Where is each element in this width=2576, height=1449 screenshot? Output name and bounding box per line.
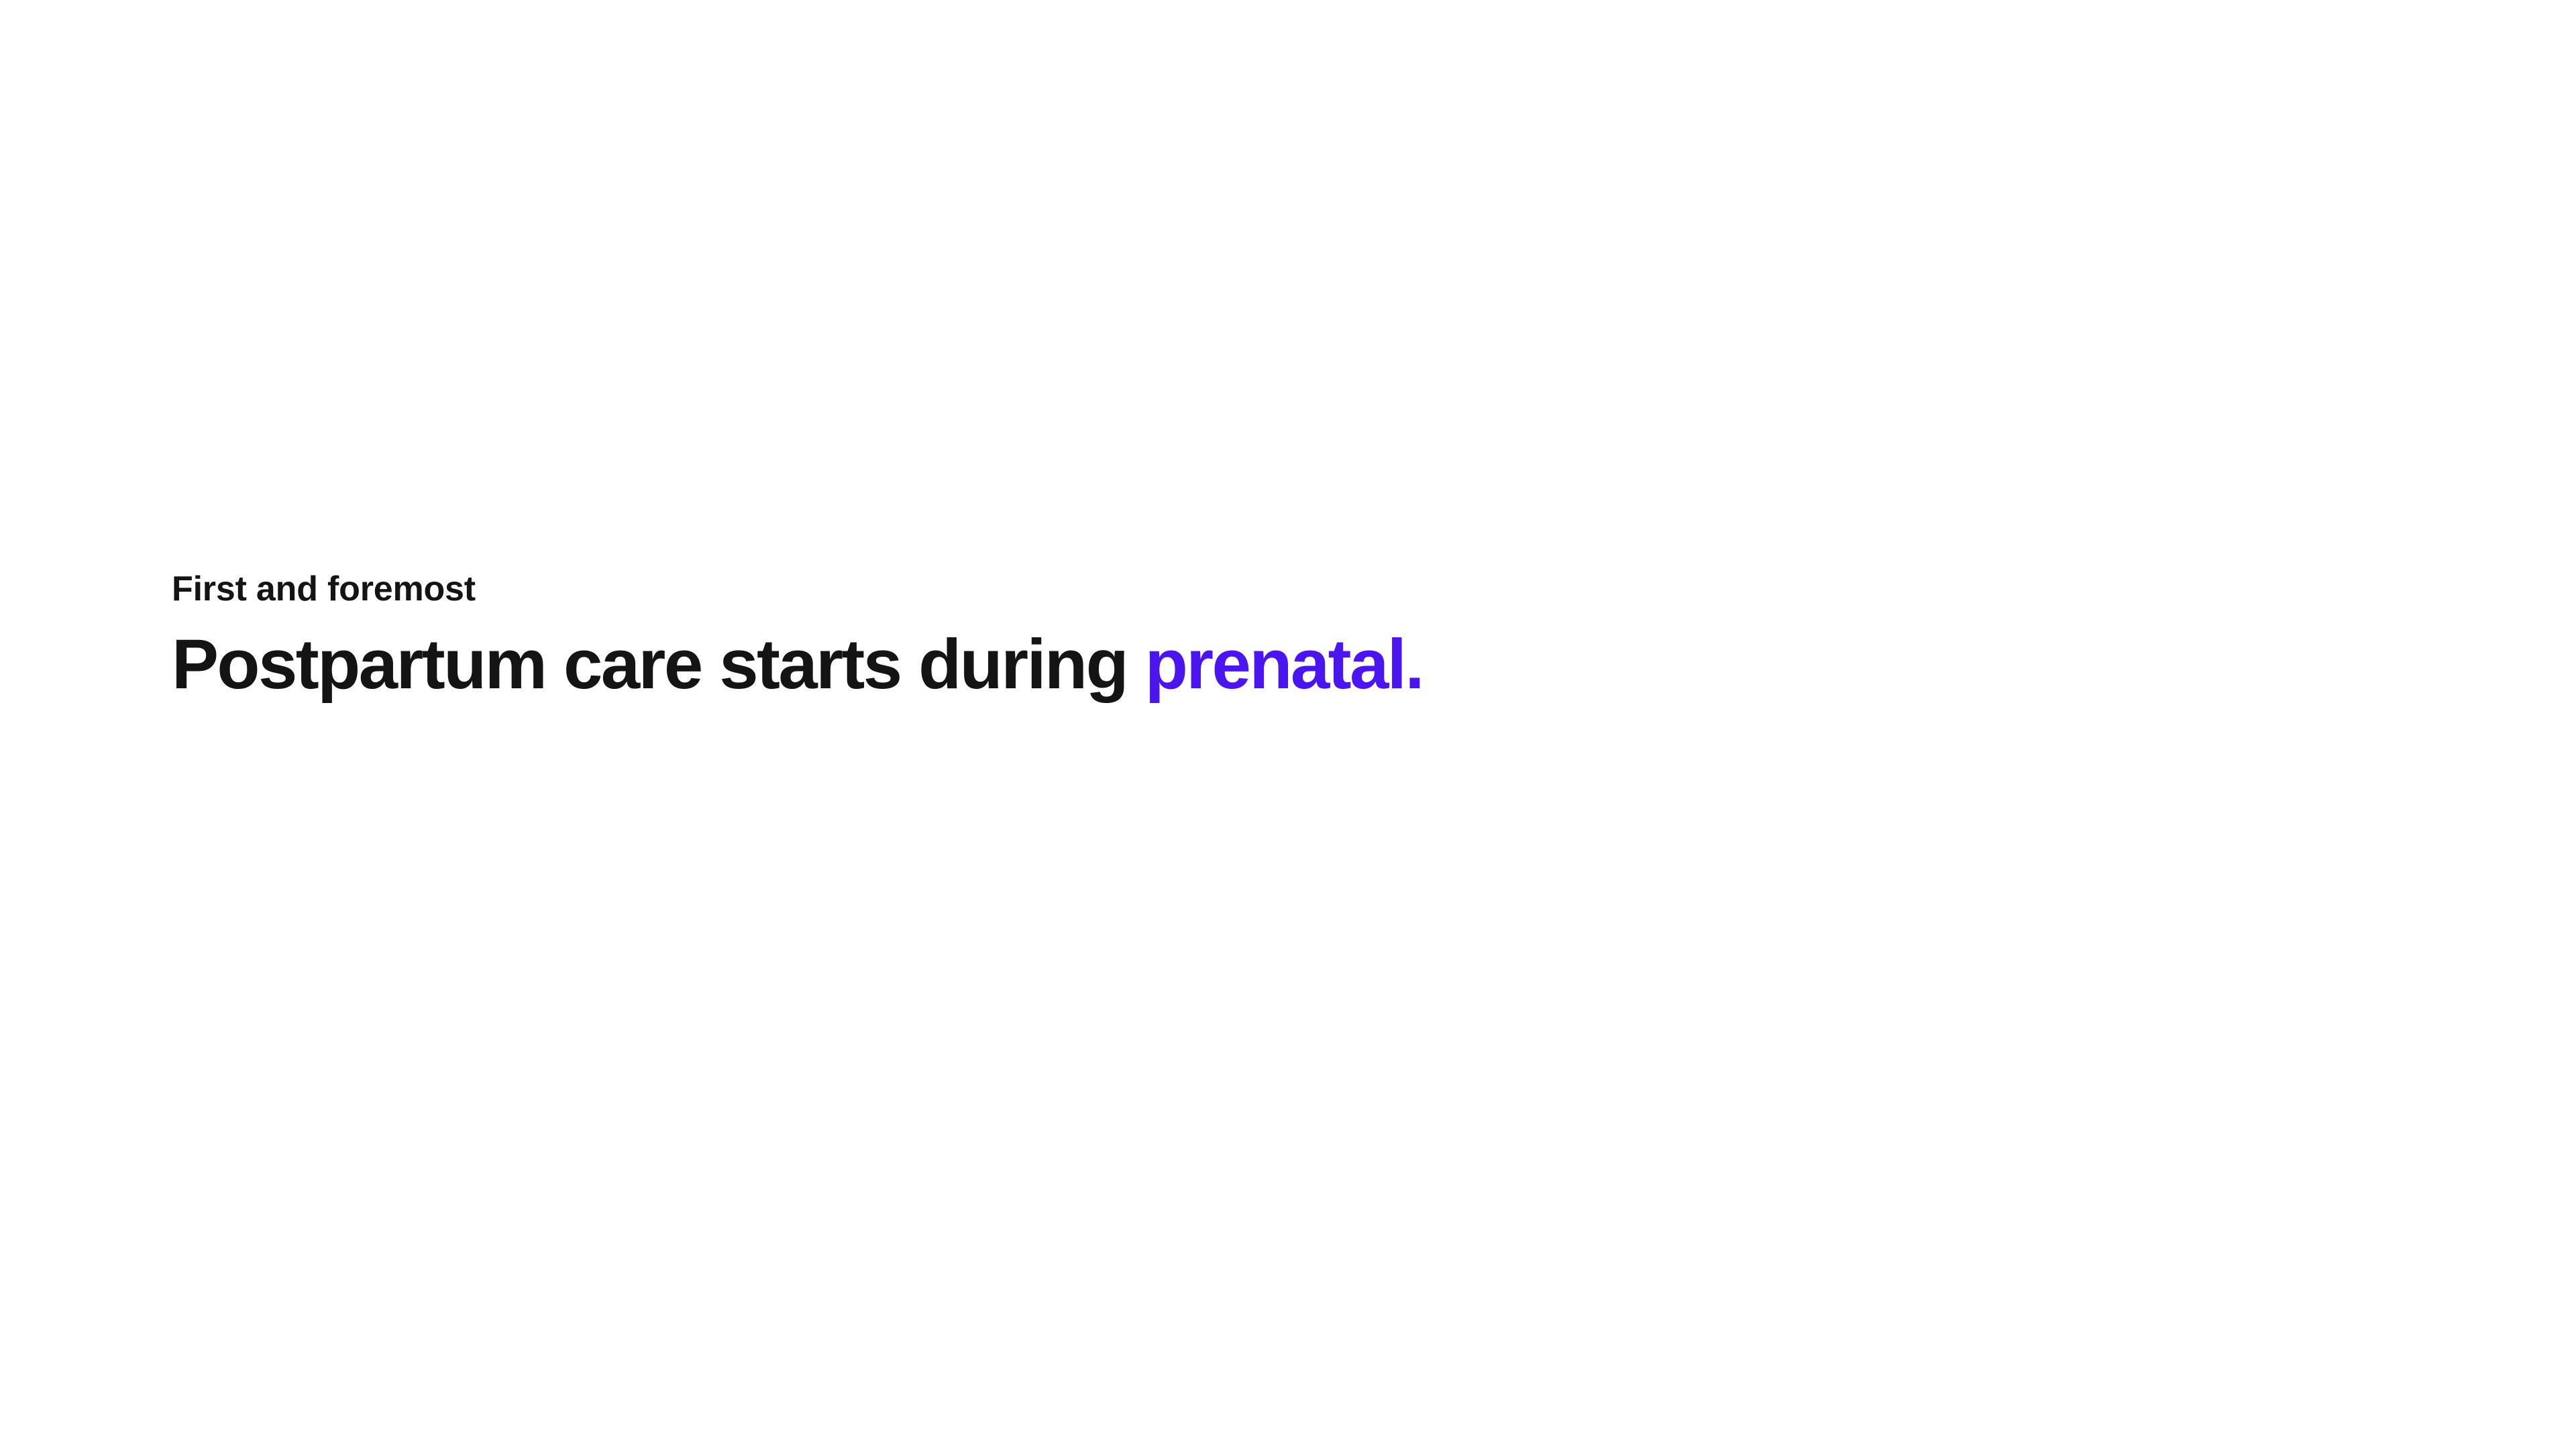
slide-canvas: First and foremost Postpartum care start… [0,0,2576,1449]
page-title: Postpartum care starts during prenatal. [172,622,2453,708]
eyebrow-label: First and foremost [172,567,2453,612]
headline-text-block: First and foremost Postpartum care start… [172,567,2453,708]
headline-lead-text: Postpartum care starts during [172,625,1145,704]
headline-accent-text: prenatal. [1145,625,1423,704]
